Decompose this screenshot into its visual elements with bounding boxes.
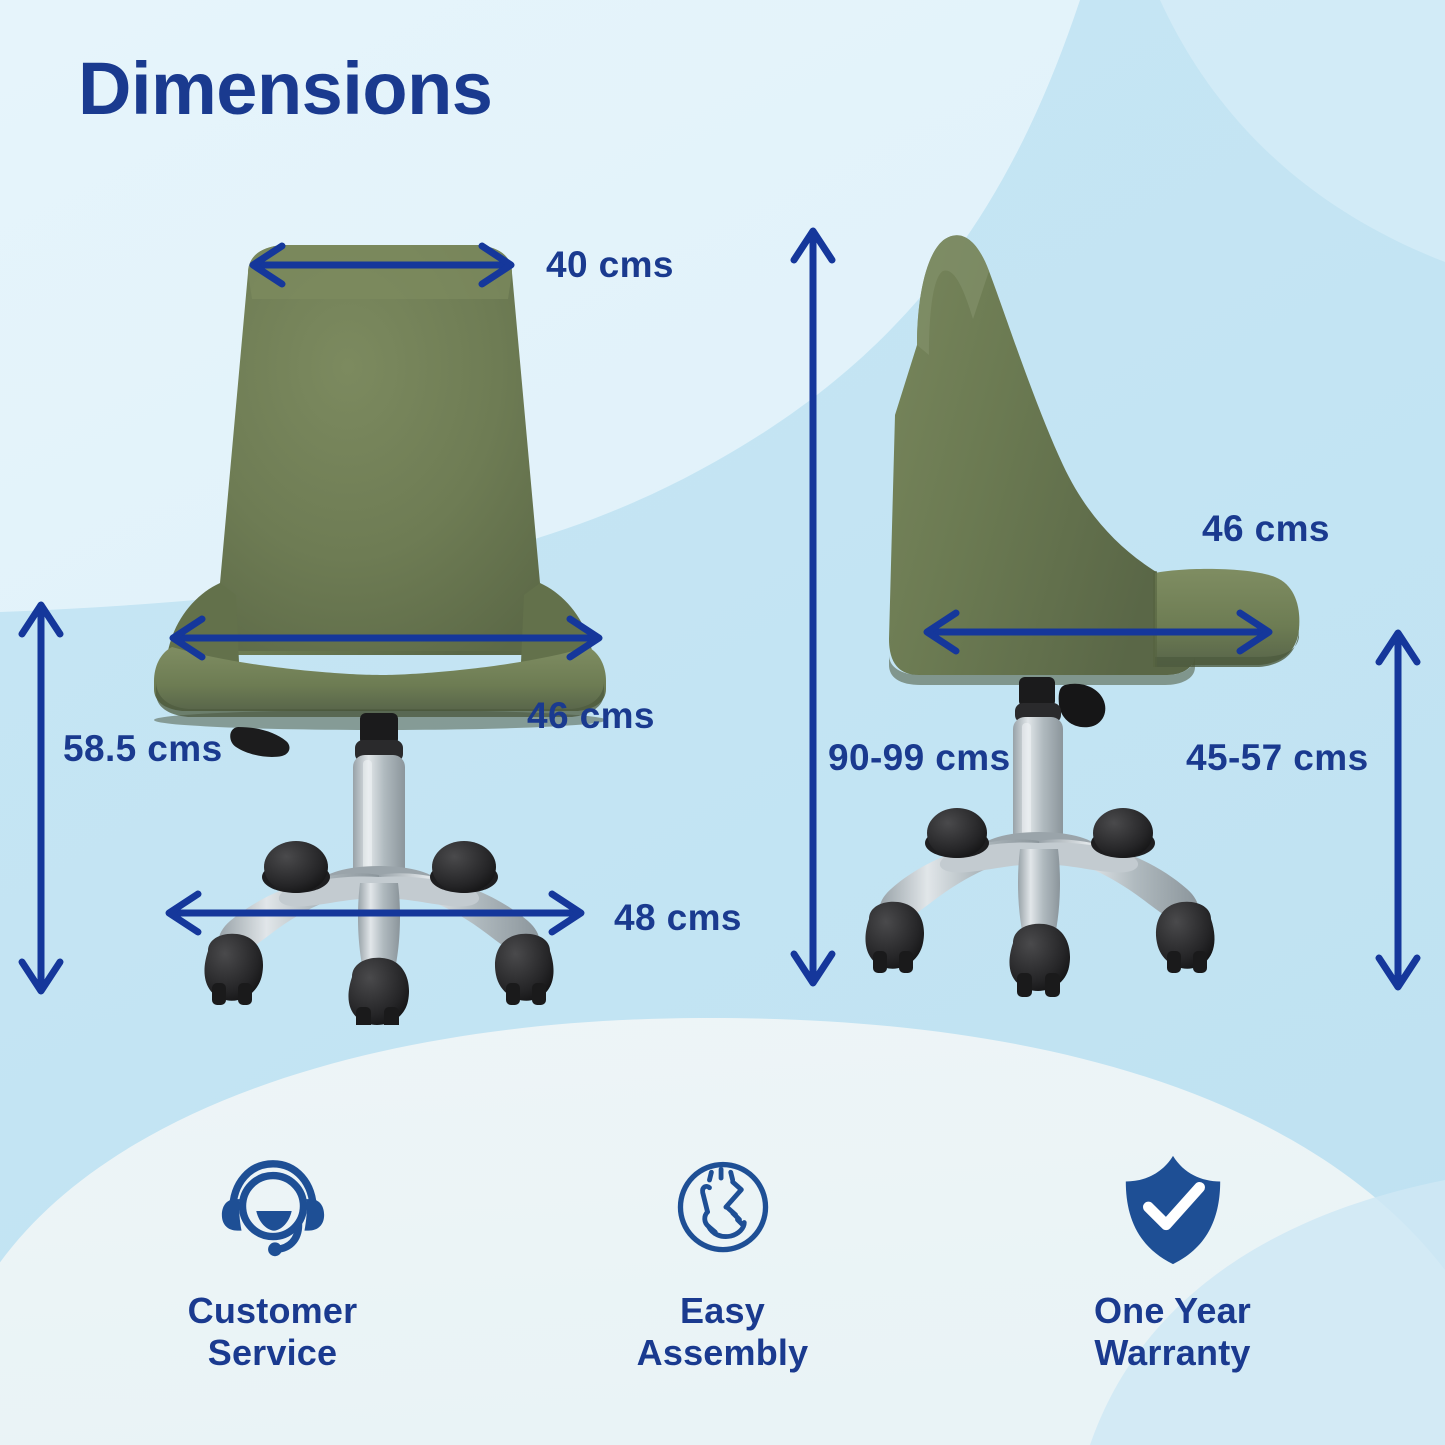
measurement-label-total-height: 90-99 cms <box>828 737 1011 779</box>
hand-snap-circle-icon <box>665 1150 781 1268</box>
measurement-label-seat-depth: 46 cms <box>1202 508 1330 550</box>
front-view-chair <box>120 215 640 1025</box>
feature-label: Easy Assembly <box>637 1290 809 1375</box>
headset-smile-icon <box>214 1150 332 1268</box>
measurement-label-base-diameter: 48 cms <box>614 897 742 939</box>
feature-one-year-warranty: One Year Warranty <box>1023 1150 1323 1375</box>
side-view-chair <box>855 215 1325 1025</box>
feature-easy-assembly: Easy Assembly <box>573 1150 873 1375</box>
feature-label: One Year Warranty <box>1094 1290 1251 1375</box>
page-title: Dimensions <box>78 46 492 131</box>
shield-check-icon <box>1117 1150 1229 1268</box>
features-row: Customer Service <box>0 1150 1445 1375</box>
feature-label: Customer Service <box>188 1290 358 1375</box>
measurement-label-overall-height: 58.5 cms <box>63 728 223 770</box>
measurement-label-backrest-width: 40 cms <box>546 244 674 286</box>
feature-customer-service: Customer Service <box>123 1150 423 1375</box>
measurement-label-seat-width: 46 cms <box>527 695 655 737</box>
measurement-label-seat-height: 45-57 cms <box>1186 737 1369 779</box>
